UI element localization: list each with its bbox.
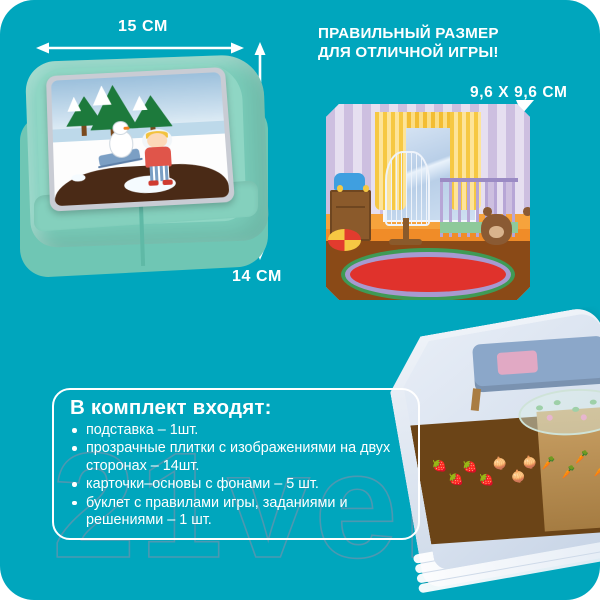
strawberry-plant-icon: 🍓 xyxy=(461,459,478,475)
list-item: буклет с правилами игры, заданиями и реш… xyxy=(70,495,420,530)
kit-contents-title: В комплект входят: xyxy=(70,396,272,420)
list-item-label: карточки–основы с фонами – 5 шт. xyxy=(86,476,319,492)
birdcage-stand xyxy=(403,218,409,242)
list-item: подставка – 1шт. xyxy=(70,422,420,439)
kit-contents-list: подставка – 1шт. прозрачные плитки с изо… xyxy=(70,422,420,530)
kit-contents-box: В комплект входят: подставка – 1шт. проз… xyxy=(52,388,420,540)
strawberry-plant-icon: 🍓 xyxy=(431,458,448,474)
bullet-icon xyxy=(72,446,77,451)
bullet-icon xyxy=(72,428,77,433)
product-infographic: 21vek.by 15 СМ 14 СМ ПРАВИЛЬНЫЙ РАЗМЕР Д… xyxy=(0,0,600,600)
strawberry-plant-icon: 🍓 xyxy=(447,471,464,487)
headline-line-2: ДЛЯ ОТЛИЧНОЙ ИГРЫ! xyxy=(318,43,499,62)
teal-background-panel: 21vek.by 15 СМ 14 СМ ПРАВИЛЬНЫЙ РАЗМЕР Д… xyxy=(0,0,600,600)
bullet-icon xyxy=(72,482,77,487)
sofa-leg xyxy=(471,388,481,411)
toy-car-icon xyxy=(334,173,365,191)
girl-boot xyxy=(162,179,173,185)
width-dimension-label: 15 СМ xyxy=(118,18,168,36)
spinning-top-icon xyxy=(328,229,361,251)
strawberry-plant-icon: 🍓 xyxy=(478,472,495,488)
sofa-cushion xyxy=(497,350,538,375)
carrot-icon: 🥕 xyxy=(560,464,577,480)
carrot-icon: 🥕 xyxy=(573,449,590,465)
onion-icon: 🧅 xyxy=(510,468,527,484)
list-item-label: подставка – 1шт. xyxy=(86,422,198,438)
list-item: прозрачные плитки с изображениями на дву… xyxy=(70,440,420,475)
page-title: ПРАВИЛЬНЫЙ РАЗМЕР ДЛЯ ОТЛИЧНОЙ ИГРЫ! xyxy=(318,24,499,62)
list-item: карточки–основы с фонами – 5 шт. xyxy=(70,476,420,493)
carrot-icon: 🥕 xyxy=(592,462,600,478)
headline-line-1: ПРАВИЛЬНЫЙ РАЗМЕР xyxy=(318,24,499,43)
birdcage-icon xyxy=(385,151,430,226)
list-item-label: буклет с правилами игры, заданиями и реш… xyxy=(86,495,347,528)
nursery-room-card xyxy=(326,104,530,300)
onion-icon: 🧅 xyxy=(491,455,508,471)
sofa-illustration xyxy=(472,336,600,393)
round-rug xyxy=(350,257,505,292)
carrot-icon: 🥕 xyxy=(540,455,557,471)
list-item-label: прозрачные плитки с изображениями на дву… xyxy=(86,440,390,473)
toy-stand-device xyxy=(12,52,274,280)
bullet-icon xyxy=(72,501,77,506)
device-screen xyxy=(46,67,235,212)
onion-icon: 🧅 xyxy=(521,454,538,470)
girl-boot xyxy=(148,180,159,186)
birdcage-foot xyxy=(389,239,422,245)
winter-scene-illustration xyxy=(51,72,229,206)
teddy-bear-icon xyxy=(481,214,512,245)
